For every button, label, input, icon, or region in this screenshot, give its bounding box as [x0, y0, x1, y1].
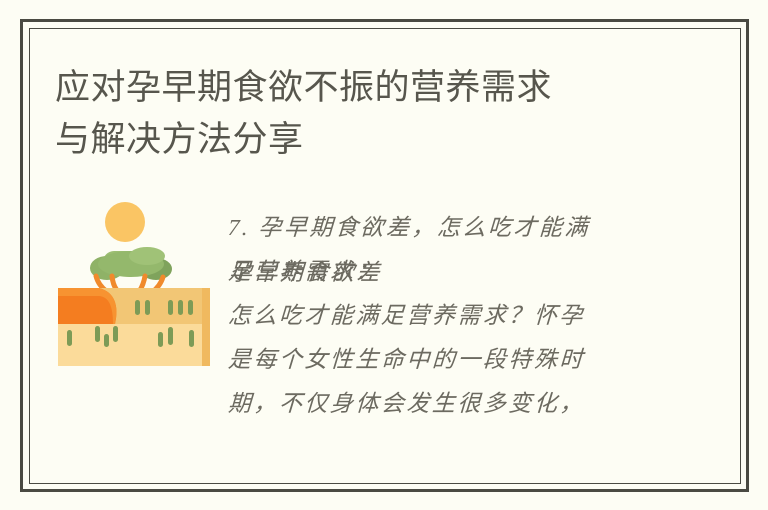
grass-tuft — [95, 326, 100, 342]
grass-tuft — [158, 332, 163, 347]
body-line-2-ghost: 孕早期食欲差 — [228, 251, 383, 295]
body-overlapping-lines: 足营养需求： 孕早期食欲差 — [228, 250, 658, 294]
grass-tuft — [104, 334, 109, 347]
savanna-tree-icon — [55, 196, 213, 368]
body-line-4: 是每个女性生命中的一段特殊时 — [227, 338, 659, 382]
grass-tuft — [168, 327, 173, 345]
article-body: 7. 孕早期食欲差，怎么吃才能满 足营养需求： 孕早期食欲差 怎么吃才能满足营养… — [228, 206, 658, 426]
grass-tuft — [188, 300, 193, 315]
grass-tuft — [113, 326, 118, 342]
grass-tuft — [135, 300, 140, 315]
grass-tuft — [67, 330, 72, 346]
sun-icon — [105, 202, 145, 242]
page-title-line-1: 应对孕早期食欲不振的营养需求 — [55, 62, 655, 114]
grass-tuft — [145, 300, 150, 315]
ground-right-edge — [202, 288, 210, 366]
savanna-tree-illustration — [55, 196, 213, 368]
article-card: 应对孕早期食欲不振的营养需求 与解决方法分享 — [0, 0, 768, 510]
grass-tuft — [178, 300, 183, 315]
body-line-1: 7. 孕早期食欲差，怎么吃才能满 — [227, 206, 659, 250]
page-title: 应对孕早期食欲不振的营养需求 与解决方法分享 — [55, 62, 655, 166]
body-line-5: 期，不仅身体会发生很多变化， — [227, 382, 659, 426]
page-title-line-2: 与解决方法分享 — [55, 114, 655, 166]
grass-tuft — [168, 300, 173, 315]
body-line-3: 怎么吃才能满足营养需求？怀孕 — [227, 294, 659, 338]
grass-tuft — [189, 330, 194, 347]
